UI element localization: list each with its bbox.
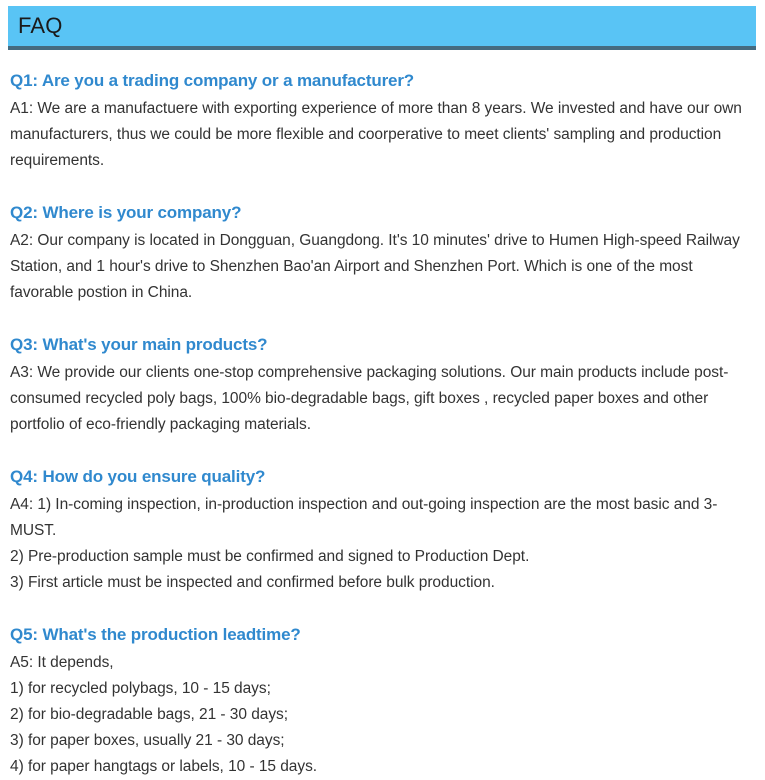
faq-page: FAQ Q1: Are you a trading company or a m… [0,0,765,748]
faq-answer: A5: It depends,1) for recycled polybags,… [10,650,755,780]
faq-item: Q1: Are you a trading company or a manuf… [10,68,755,174]
faq-answer-line: A3: We provide our clients one-stop comp… [10,360,755,438]
faq-answer-line: A1: We are a manufactuere with exporting… [10,96,755,174]
faq-question: Q3: What's your main products? [10,332,755,358]
faq-item: Q5: What's the production leadtime?A5: I… [10,622,755,780]
faq-question: Q2: Where is your company? [10,200,755,226]
faq-answer: A3: We provide our clients one-stop comp… [10,360,755,438]
faq-item: Q4: How do you ensure quality?A4: 1) In-… [10,464,755,596]
faq-answer-line: A4: 1) In-coming inspection, in-producti… [10,492,755,544]
faq-list: Q1: Are you a trading company or a manuf… [10,68,755,780]
faq-answer-line: 1) for recycled polybags, 10 - 15 days; [10,676,755,702]
page-title: FAQ [18,12,63,40]
faq-question: Q5: What's the production leadtime? [10,622,755,648]
faq-answer-line: 3) First article must be inspected and c… [10,570,755,596]
faq-answer-line: A2: Our company is located in Dongguan, … [10,228,755,306]
faq-answer-line: 2) for bio-degradable bags, 21 - 30 days… [10,702,755,728]
faq-question: Q4: How do you ensure quality? [10,464,755,490]
faq-item: Q2: Where is your company?A2: Our compan… [10,200,755,306]
faq-answer: A1: We are a manufactuere with exporting… [10,96,755,174]
faq-question: Q1: Are you a trading company or a manuf… [10,68,755,94]
faq-banner: FAQ [8,6,756,50]
faq-item: Q3: What's your main products?A3: We pro… [10,332,755,438]
faq-answer-line: 3) for paper boxes, usually 21 - 30 days… [10,728,755,754]
faq-answer-line: 4) for paper hangtags or labels, 10 - 15… [10,754,755,780]
faq-answer-line: A5: It depends, [10,650,755,676]
faq-answer-line: 2) Pre-production sample must be confirm… [10,544,755,570]
faq-answer: A4: 1) In-coming inspection, in-producti… [10,492,755,596]
faq-answer: A2: Our company is located in Dongguan, … [10,228,755,306]
